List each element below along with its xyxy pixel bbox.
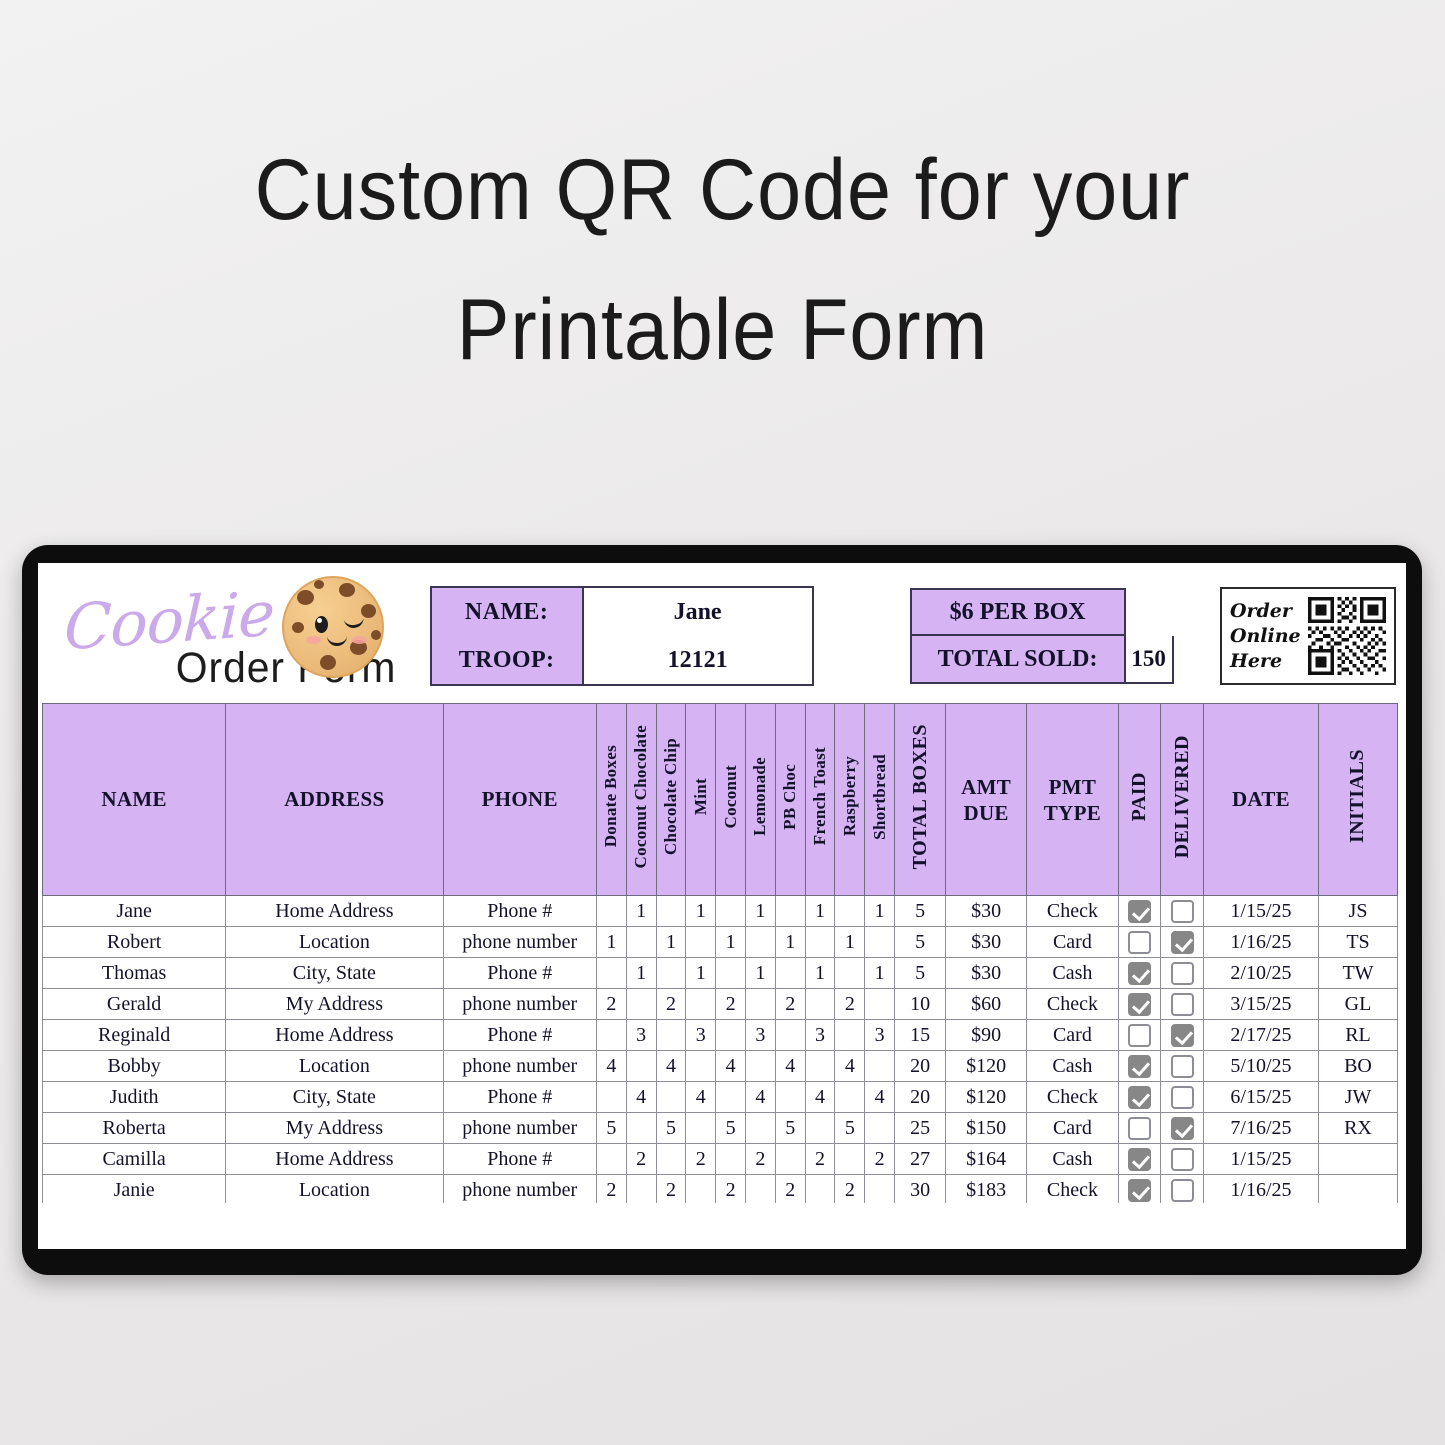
- cell-qty-donate-boxes[interactable]: 1: [596, 927, 626, 958]
- cell-delivered[interactable]: [1161, 896, 1204, 927]
- cell-qty-raspberry[interactable]: [835, 1020, 865, 1051]
- cell-qty-coconut-chocolate[interactable]: 4: [626, 1082, 656, 1113]
- cell-qty-donate-boxes[interactable]: [596, 896, 626, 927]
- cell-qty-shortbread[interactable]: 3: [865, 1020, 895, 1051]
- cell-qty-lemonade[interactable]: 1: [745, 958, 775, 989]
- cell-delivered[interactable]: [1161, 989, 1204, 1020]
- troop-label: TROOP:: [432, 636, 584, 684]
- col-header-coconut[interactable]: Coconut: [716, 704, 746, 896]
- cell-qty-lemonade[interactable]: 3: [745, 1020, 775, 1051]
- cell-name[interactable]: Roberta: [43, 1113, 226, 1144]
- cell-qty-lemonade[interactable]: [745, 927, 775, 958]
- cell-date[interactable]: 2/17/25: [1203, 1020, 1318, 1051]
- cell-qty-mint[interactable]: 4: [686, 1082, 716, 1113]
- table-row[interactable]: JanieLocationphone number2222230$183Chec…: [43, 1175, 1398, 1206]
- table-row[interactable]: GeraldMy Addressphone number2222210$60Ch…: [43, 989, 1398, 1020]
- delivered-checkbox[interactable]: [1171, 1086, 1194, 1109]
- paid-checkbox[interactable]: [1128, 1055, 1151, 1078]
- pmt-type-line-2: TYPE: [1027, 800, 1118, 826]
- cell-name[interactable]: Jane: [43, 896, 226, 927]
- cell-qty-mint[interactable]: [686, 1175, 716, 1206]
- cell-pmt-type[interactable]: Check: [1027, 896, 1119, 927]
- cell-initials[interactable]: [1318, 1144, 1397, 1175]
- cell-delivered[interactable]: [1161, 1144, 1204, 1175]
- cell-qty-pb-choc[interactable]: 2: [775, 1175, 805, 1206]
- cell-qty-coconut-chocolate[interactable]: [626, 1175, 656, 1206]
- cell-phone[interactable]: Phone #: [443, 1020, 596, 1051]
- col-header-chocolate-chip[interactable]: Chocolate Chip: [656, 704, 686, 896]
- table-row[interactable]: JaneHome AddressPhone #111115$30Check1/1…: [43, 896, 1398, 927]
- cell-total-boxes[interactable]: 30: [895, 1175, 946, 1206]
- cell-paid[interactable]: [1118, 1113, 1161, 1144]
- cell-qty-raspberry[interactable]: [835, 1144, 865, 1175]
- col-header-pmt-type[interactable]: PMT TYPE: [1027, 704, 1119, 896]
- cell-qty-lemonade[interactable]: 1: [745, 896, 775, 927]
- cell-paid[interactable]: [1118, 1082, 1161, 1113]
- cell-paid[interactable]: [1118, 989, 1161, 1020]
- cell-qty-chocolate-chip[interactable]: 4: [656, 1051, 686, 1082]
- cell-qty-french-toast[interactable]: [805, 989, 835, 1020]
- cell-qty-chocolate-chip[interactable]: [656, 958, 686, 989]
- col-header-lemonade[interactable]: Lemonade: [745, 704, 775, 896]
- cell-initials[interactable]: RL: [1318, 1020, 1397, 1051]
- cell-initials[interactable]: RX: [1318, 1113, 1397, 1144]
- cell-qty-raspberry[interactable]: 1: [835, 927, 865, 958]
- qr-code-block[interactable]: Order Online Here: [1220, 587, 1396, 685]
- col-header-raspberry[interactable]: Raspberry: [835, 704, 865, 896]
- cell-date[interactable]: 5/10/25: [1203, 1051, 1318, 1082]
- cell-amt-due[interactable]: $164: [946, 1144, 1027, 1175]
- col-header-shortbread[interactable]: Shortbread: [865, 704, 895, 896]
- cell-date[interactable]: 3/15/25: [1203, 989, 1318, 1020]
- cell-qty-donate-boxes[interactable]: 5: [596, 1113, 626, 1144]
- cell-qty-shortbread[interactable]: 4: [865, 1082, 895, 1113]
- cell-phone[interactable]: Phone #: [443, 958, 596, 989]
- cell-qty-donate-boxes[interactable]: [596, 958, 626, 989]
- cell-total-boxes[interactable]: 20: [895, 1051, 946, 1082]
- cell-qty-chocolate-chip[interactable]: 2: [656, 989, 686, 1020]
- cell-date[interactable]: 1/15/25: [1203, 896, 1318, 927]
- col-header-paid[interactable]: PAID: [1118, 704, 1161, 896]
- cell-qty-chocolate-chip[interactable]: [656, 1020, 686, 1051]
- name-value[interactable]: Jane: [584, 588, 812, 636]
- cell-paid[interactable]: [1118, 1175, 1161, 1206]
- brand-logo: Cookie Order Form: [58, 572, 416, 700]
- col-header-initials[interactable]: INITIALS: [1318, 704, 1397, 896]
- total-sold-label: TOTAL SOLD:: [910, 636, 1126, 684]
- cell-qty-coconut[interactable]: 1: [716, 927, 746, 958]
- sheet-bottom-gutter: [42, 1203, 1402, 1237]
- delivered-checkbox[interactable]: [1171, 900, 1194, 923]
- delivered-checkbox[interactable]: [1171, 1148, 1194, 1171]
- cell-delivered[interactable]: [1161, 927, 1204, 958]
- cell-delivered[interactable]: [1161, 1020, 1204, 1051]
- cell-qty-coconut[interactable]: [716, 1082, 746, 1113]
- paid-checkbox[interactable]: [1128, 962, 1151, 985]
- cell-initials[interactable]: GL: [1318, 989, 1397, 1020]
- table-header-row: NAME ADDRESS PHONE Donate Boxes Coconut …: [43, 704, 1398, 896]
- partial-cutoff-row: [42, 1205, 1402, 1237]
- cell-address[interactable]: My Address: [226, 1113, 443, 1144]
- cell-paid[interactable]: [1118, 1051, 1161, 1082]
- paid-checkbox[interactable]: [1128, 931, 1151, 954]
- cell-qty-french-toast[interactable]: 1: [805, 896, 835, 927]
- cell-qty-coconut-chocolate[interactable]: 2: [626, 1144, 656, 1175]
- cell-pmt-type[interactable]: Check: [1027, 1082, 1119, 1113]
- col-header-total-boxes[interactable]: TOTAL BOXES: [895, 704, 946, 896]
- cell-qty-french-toast[interactable]: 1: [805, 958, 835, 989]
- cell-qty-coconut[interactable]: [716, 896, 746, 927]
- name-label: NAME:: [432, 588, 584, 636]
- cell-qty-coconut-chocolate[interactable]: [626, 1113, 656, 1144]
- cell-qty-donate-boxes[interactable]: [596, 1082, 626, 1113]
- cell-qty-donate-boxes[interactable]: [596, 1144, 626, 1175]
- promo-heading: Custom QR Code for your Printable Form: [0, 120, 1445, 400]
- cell-qty-french-toast[interactable]: [805, 1113, 835, 1144]
- cell-pmt-type[interactable]: Card: [1027, 1020, 1119, 1051]
- cell-qty-french-toast[interactable]: [805, 927, 835, 958]
- cell-address[interactable]: Location: [226, 927, 443, 958]
- cell-pmt-type[interactable]: Cash: [1027, 1144, 1119, 1175]
- cell-qty-pb-choc[interactable]: [775, 1020, 805, 1051]
- cell-qty-chocolate-chip[interactable]: [656, 1144, 686, 1175]
- cell-qty-donate-boxes[interactable]: [596, 1020, 626, 1051]
- cell-qty-french-toast[interactable]: [805, 1051, 835, 1082]
- paid-checkbox[interactable]: [1128, 993, 1151, 1016]
- cell-qty-coconut-chocolate[interactable]: 3: [626, 1020, 656, 1051]
- cell-date[interactable]: 6/15/25: [1203, 1082, 1318, 1113]
- cell-qty-donate-boxes[interactable]: 2: [596, 989, 626, 1020]
- cell-date[interactable]: 2/10/25: [1203, 958, 1318, 989]
- cell-amt-due[interactable]: $30: [946, 927, 1027, 958]
- cell-qty-coconut-chocolate[interactable]: 1: [626, 958, 656, 989]
- total-sold-value[interactable]: 150: [1126, 636, 1174, 684]
- screen: Cookie Order Form NAME: Jane TROOP: [38, 563, 1406, 1249]
- col-header-french-toast[interactable]: French Toast: [805, 704, 835, 896]
- cell-qty-mint[interactable]: [686, 989, 716, 1020]
- order-table: NAME ADDRESS PHONE Donate Boxes Coconut …: [42, 703, 1398, 1206]
- cell-qty-pb-choc[interactable]: [775, 958, 805, 989]
- cell-qty-pb-choc[interactable]: [775, 1144, 805, 1175]
- cell-paid[interactable]: [1118, 1144, 1161, 1175]
- cell-qty-pb-choc[interactable]: 4: [775, 1051, 805, 1082]
- table-row[interactable]: RobertLocationphone number111115$30Card1…: [43, 927, 1398, 958]
- cell-phone[interactable]: phone number: [443, 989, 596, 1020]
- col-header-date[interactable]: DATE: [1203, 704, 1318, 896]
- cell-address[interactable]: Location: [226, 1175, 443, 1206]
- cell-qty-mint[interactable]: 3: [686, 1020, 716, 1051]
- cell-delivered[interactable]: [1161, 1051, 1204, 1082]
- order-table-container[interactable]: NAME ADDRESS PHONE Donate Boxes Coconut …: [38, 703, 1406, 1237]
- qr-caption-line-2: Online: [1230, 624, 1301, 649]
- cell-pmt-type[interactable]: Card: [1027, 1113, 1119, 1144]
- cell-qty-mint[interactable]: 1: [686, 896, 716, 927]
- amt-due-line-2: DUE: [946, 800, 1026, 826]
- cell-qty-shortbread[interactable]: 1: [865, 958, 895, 989]
- cell-qty-shortbread[interactable]: 2: [865, 1144, 895, 1175]
- cell-qty-shortbread[interactable]: [865, 1175, 895, 1206]
- paid-checkbox[interactable]: [1128, 1086, 1151, 1109]
- cell-address[interactable]: Home Address: [226, 896, 443, 927]
- cell-qty-coconut[interactable]: 2: [716, 989, 746, 1020]
- cell-qty-raspberry[interactable]: [835, 896, 865, 927]
- cell-qty-coconut[interactable]: 2: [716, 1175, 746, 1206]
- cell-address[interactable]: Home Address: [226, 1144, 443, 1175]
- col-header-coconut-chocolate[interactable]: Coconut Chocolate: [626, 704, 656, 896]
- cell-qty-donate-boxes[interactable]: 4: [596, 1051, 626, 1082]
- delivered-checkbox[interactable]: [1171, 962, 1194, 985]
- cell-amt-due[interactable]: $30: [946, 896, 1027, 927]
- name-troop-block: NAME: Jane TROOP: 12121: [430, 586, 814, 686]
- cell-name[interactable]: Gerald: [43, 989, 226, 1020]
- cell-total-boxes[interactable]: 10: [895, 989, 946, 1020]
- cell-paid[interactable]: [1118, 1020, 1161, 1051]
- cell-total-boxes[interactable]: 27: [895, 1144, 946, 1175]
- cell-name[interactable]: Janie: [43, 1175, 226, 1206]
- cell-qty-coconut-chocolate[interactable]: [626, 1051, 656, 1082]
- col-header-address[interactable]: ADDRESS: [226, 704, 443, 896]
- cell-pmt-type[interactable]: Check: [1027, 989, 1119, 1020]
- paid-checkbox[interactable]: [1128, 900, 1151, 923]
- delivered-checkbox[interactable]: [1171, 931, 1194, 954]
- cell-qty-mint[interactable]: [686, 1051, 716, 1082]
- cell-qty-coconut-chocolate[interactable]: [626, 927, 656, 958]
- cell-address[interactable]: City, State: [226, 1082, 443, 1113]
- cell-qty-coconut[interactable]: 5: [716, 1113, 746, 1144]
- pmt-type-line-1: PMT: [1027, 774, 1118, 800]
- col-header-mint[interactable]: Mint: [686, 704, 716, 896]
- delivered-checkbox[interactable]: [1171, 993, 1194, 1016]
- cell-total-boxes[interactable]: 5: [895, 958, 946, 989]
- cell-qty-chocolate-chip[interactable]: 5: [656, 1113, 686, 1144]
- cell-amt-due[interactable]: $30: [946, 958, 1027, 989]
- cell-initials[interactable]: TS: [1318, 927, 1397, 958]
- cell-delivered[interactable]: [1161, 1082, 1204, 1113]
- cell-delivered[interactable]: [1161, 1113, 1204, 1144]
- cell-phone[interactable]: phone number: [443, 1113, 596, 1144]
- cell-qty-mint[interactable]: 1: [686, 958, 716, 989]
- cell-phone[interactable]: phone number: [443, 1051, 596, 1082]
- col-header-pb-choc[interactable]: PB Choc: [775, 704, 805, 896]
- cell-amt-due[interactable]: $60: [946, 989, 1027, 1020]
- cell-initials[interactable]: TW: [1318, 958, 1397, 989]
- cell-qty-raspberry[interactable]: [835, 958, 865, 989]
- amt-due-line-1: AMT: [946, 774, 1026, 800]
- qr-caption-line-1: Order: [1230, 599, 1301, 624]
- cell-qty-pb-choc[interactable]: [775, 1082, 805, 1113]
- price-per-box-label: $6 PER BOX: [910, 588, 1126, 636]
- cell-qty-french-toast[interactable]: [805, 1175, 835, 1206]
- cell-paid[interactable]: [1118, 927, 1161, 958]
- cell-address[interactable]: City, State: [226, 958, 443, 989]
- cell-delivered[interactable]: [1161, 1175, 1204, 1206]
- cell-initials[interactable]: BO: [1318, 1051, 1397, 1082]
- cell-address[interactable]: Location: [226, 1051, 443, 1082]
- cell-qty-lemonade[interactable]: [745, 1051, 775, 1082]
- cell-qty-lemonade[interactable]: [745, 989, 775, 1020]
- cell-qty-pb-choc[interactable]: 2: [775, 989, 805, 1020]
- delivered-checkbox[interactable]: [1171, 1179, 1194, 1202]
- cell-qty-coconut[interactable]: [716, 958, 746, 989]
- cell-name[interactable]: Camilla: [43, 1144, 226, 1175]
- cell-pmt-type[interactable]: Cash: [1027, 958, 1119, 989]
- cell-address[interactable]: My Address: [226, 989, 443, 1020]
- cell-qty-coconut[interactable]: 4: [716, 1051, 746, 1082]
- col-header-delivered[interactable]: DELIVERED: [1161, 704, 1204, 896]
- cell-qty-chocolate-chip[interactable]: 1: [656, 927, 686, 958]
- cell-phone[interactable]: Phone #: [443, 896, 596, 927]
- cell-qty-french-toast[interactable]: 3: [805, 1020, 835, 1051]
- promo-line-1: Custom QR Code for your: [58, 120, 1387, 260]
- cell-name[interactable]: Reginald: [43, 1020, 226, 1051]
- paid-checkbox[interactable]: [1128, 1179, 1151, 1202]
- cell-name[interactable]: Judith: [43, 1082, 226, 1113]
- paid-checkbox[interactable]: [1128, 1024, 1151, 1047]
- cell-qty-pb-choc[interactable]: 1: [775, 927, 805, 958]
- cell-amt-due[interactable]: $120: [946, 1082, 1027, 1113]
- cell-date[interactable]: 1/16/25: [1203, 1175, 1318, 1206]
- cell-qty-shortbread[interactable]: [865, 1113, 895, 1144]
- cell-phone[interactable]: Phone #: [443, 1144, 596, 1175]
- cell-initials[interactable]: JS: [1318, 896, 1397, 927]
- cell-pmt-type[interactable]: Cash: [1027, 1051, 1119, 1082]
- cell-qty-lemonade[interactable]: 4: [745, 1082, 775, 1113]
- cell-qty-chocolate-chip[interactable]: 2: [656, 1175, 686, 1206]
- cell-qty-donate-boxes[interactable]: 2: [596, 1175, 626, 1206]
- paid-checkbox[interactable]: [1128, 1148, 1151, 1171]
- cell-total-boxes[interactable]: 20: [895, 1082, 946, 1113]
- cell-qty-lemonade[interactable]: [745, 1113, 775, 1144]
- cell-qty-raspberry[interactable]: 4: [835, 1051, 865, 1082]
- troop-value[interactable]: 12121: [584, 636, 812, 684]
- cell-total-boxes[interactable]: 5: [895, 896, 946, 927]
- cell-qty-lemonade[interactable]: 2: [745, 1144, 775, 1175]
- cell-amt-due[interactable]: $90: [946, 1020, 1027, 1051]
- col-header-phone[interactable]: PHONE: [443, 704, 596, 896]
- cell-qty-pb-choc[interactable]: [775, 896, 805, 927]
- cell-qty-coconut-chocolate[interactable]: 1: [626, 896, 656, 927]
- cell-qty-raspberry[interactable]: 5: [835, 1113, 865, 1144]
- cell-qty-mint[interactable]: [686, 927, 716, 958]
- cell-pmt-type[interactable]: Card: [1027, 927, 1119, 958]
- cell-qty-shortbread[interactable]: 1: [865, 896, 895, 927]
- promo-line-2: Printable Form: [58, 260, 1387, 400]
- cell-qty-french-toast[interactable]: 2: [805, 1144, 835, 1175]
- cell-amt-due[interactable]: $120: [946, 1051, 1027, 1082]
- delivered-checkbox[interactable]: [1171, 1055, 1194, 1078]
- table-body: JaneHome AddressPhone #111115$30Check1/1…: [43, 896, 1398, 1206]
- table-row[interactable]: ReginaldHome AddressPhone #3333315$90Car…: [43, 1020, 1398, 1051]
- col-header-donate-boxes[interactable]: Donate Boxes: [596, 704, 626, 896]
- device-frame: Cookie Order Form NAME: Jane TROOP: [22, 545, 1422, 1275]
- table-row[interactable]: ThomasCity, StatePhone #111115$30Cash2/1…: [43, 958, 1398, 989]
- cell-qty-mint[interactable]: [686, 1113, 716, 1144]
- table-row[interactable]: JudithCity, StatePhone #4444420$120Check…: [43, 1082, 1398, 1113]
- cell-paid[interactable]: [1118, 958, 1161, 989]
- col-header-name[interactable]: NAME: [43, 704, 226, 896]
- cell-qty-shortbread[interactable]: [865, 1051, 895, 1082]
- cell-pmt-type[interactable]: Check: [1027, 1175, 1119, 1206]
- cell-phone[interactable]: Phone #: [443, 1082, 596, 1113]
- table-row[interactable]: BobbyLocationphone number4444420$120Cash…: [43, 1051, 1398, 1082]
- cell-qty-mint[interactable]: 2: [686, 1144, 716, 1175]
- cell-qty-coconut[interactable]: [716, 1020, 746, 1051]
- cell-name[interactable]: Thomas: [43, 958, 226, 989]
- cell-initials[interactable]: JW: [1318, 1082, 1397, 1113]
- cell-amt-due[interactable]: $183: [946, 1175, 1027, 1206]
- cell-delivered[interactable]: [1161, 958, 1204, 989]
- cell-initials[interactable]: [1318, 1175, 1397, 1206]
- paid-checkbox[interactable]: [1128, 1117, 1151, 1140]
- table-row[interactable]: CamillaHome AddressPhone #2222227$164Cas…: [43, 1144, 1398, 1175]
- cell-name[interactable]: Robert: [43, 927, 226, 958]
- cell-qty-raspberry[interactable]: 2: [835, 1175, 865, 1206]
- cell-qty-coconut-chocolate[interactable]: [626, 989, 656, 1020]
- delivered-checkbox[interactable]: [1171, 1117, 1194, 1140]
- cell-total-boxes[interactable]: 15: [895, 1020, 946, 1051]
- cell-date[interactable]: 1/16/25: [1203, 927, 1318, 958]
- cell-amt-due[interactable]: $150: [946, 1113, 1027, 1144]
- cell-qty-chocolate-chip[interactable]: [656, 896, 686, 927]
- delivered-checkbox[interactable]: [1171, 1024, 1194, 1047]
- cell-name[interactable]: Bobby: [43, 1051, 226, 1082]
- price-total-block: $6 PER BOX TOTAL SOLD: 150: [910, 588, 1174, 684]
- cell-total-boxes[interactable]: 25: [895, 1113, 946, 1144]
- cell-date[interactable]: 7/16/25: [1203, 1113, 1318, 1144]
- cell-qty-coconut[interactable]: [716, 1144, 746, 1175]
- cell-qty-shortbread[interactable]: [865, 989, 895, 1020]
- cell-qty-raspberry[interactable]: 2: [835, 989, 865, 1020]
- qr-caption: Order Online Here: [1230, 599, 1301, 674]
- table-row[interactable]: RobertaMy Addressphone number5555525$150…: [43, 1113, 1398, 1144]
- qr-caption-line-3: Here: [1230, 649, 1301, 674]
- cell-address[interactable]: Home Address: [226, 1020, 443, 1051]
- cell-qty-french-toast[interactable]: 4: [805, 1082, 835, 1113]
- cell-qty-raspberry[interactable]: [835, 1082, 865, 1113]
- cell-paid[interactable]: [1118, 896, 1161, 927]
- cookie-icon: [282, 576, 384, 678]
- cell-qty-chocolate-chip[interactable]: [656, 1082, 686, 1113]
- cell-date[interactable]: 1/15/25: [1203, 1144, 1318, 1175]
- cell-total-boxes[interactable]: 5: [895, 927, 946, 958]
- cell-phone[interactable]: phone number: [443, 1175, 596, 1206]
- cell-phone[interactable]: phone number: [443, 927, 596, 958]
- cell-qty-lemonade[interactable]: [745, 1175, 775, 1206]
- cell-qty-pb-choc[interactable]: 5: [775, 1113, 805, 1144]
- form-header: Cookie Order Form NAME: Jane TROOP: [38, 563, 1406, 703]
- cell-qty-shortbread[interactable]: [865, 927, 895, 958]
- col-header-amt-due[interactable]: AMT DUE: [946, 704, 1027, 896]
- qr-code-icon: [1308, 597, 1386, 675]
